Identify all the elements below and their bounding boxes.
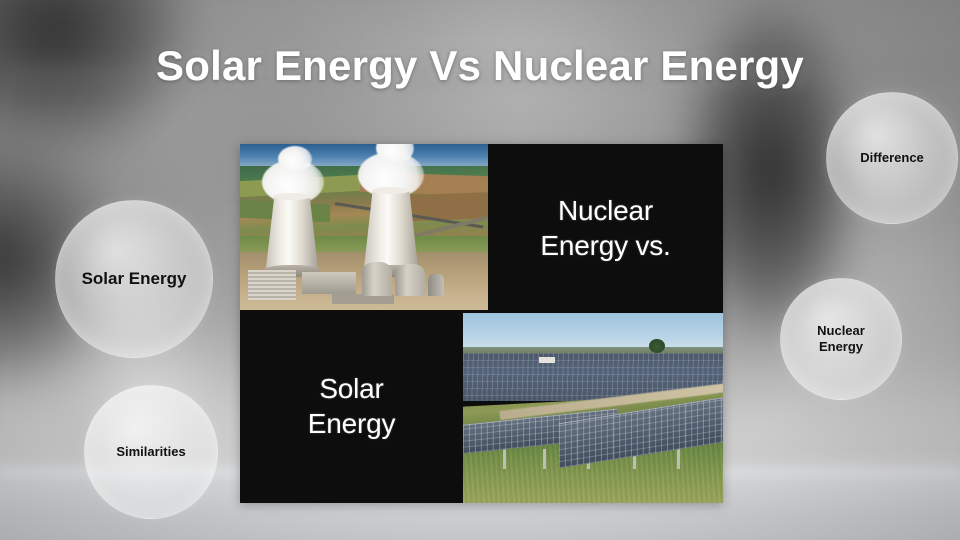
cooling-tower-rim <box>273 193 310 200</box>
bubble-label: Solar Energy <box>82 268 187 289</box>
nuclear-plant-photo <box>240 144 488 310</box>
service-building <box>539 357 555 363</box>
caption-line-1: Nuclear <box>540 194 670 228</box>
slide-title: Solar Energy Vs Nuclear Energy <box>0 42 960 90</box>
bubble-label: Similarities <box>116 444 185 460</box>
reactor-dome <box>428 274 444 296</box>
solar-energy-caption-panel: Solar Energy <box>240 310 463 503</box>
bubble-label: Difference <box>860 150 924 166</box>
caption-line-1: Solar <box>308 372 396 406</box>
reactor-dome <box>395 264 425 296</box>
caption-line-2: Energy <box>308 407 396 441</box>
cooling-tower <box>266 196 318 268</box>
panel-support-leg <box>677 449 680 469</box>
cooling-tower <box>364 190 418 268</box>
plant-building <box>302 272 356 294</box>
panel-support-leg <box>503 449 506 469</box>
presentation-slide: Solar Energy Vs Nuclear Energy <box>0 0 960 540</box>
cooling-tower-body <box>266 196 318 268</box>
bubble-similarities[interactable]: Similarities <box>84 385 218 519</box>
solar-energy-caption: Solar Energy <box>308 372 396 440</box>
steam-plume-icon <box>278 146 312 172</box>
bubble-label-line-2: Energy <box>817 339 865 355</box>
bubble-solar-energy[interactable]: Solar Energy <box>55 200 213 358</box>
photo-sky <box>463 313 723 351</box>
bubble-nuclear-energy[interactable]: Nuclear Energy <box>780 278 902 400</box>
tree-icon <box>649 339 665 353</box>
nuclear-energy-caption: Nuclear Energy vs. <box>540 194 670 262</box>
caption-line-2: Energy vs. <box>540 229 670 263</box>
collage-image: Nuclear Energy vs. Solar Energy <box>240 144 723 503</box>
cooling-tower-rim <box>372 187 411 194</box>
reactor-dome <box>362 262 392 296</box>
bubble-label-line-1: Nuclear <box>817 323 865 339</box>
nuclear-energy-caption-panel: Nuclear Energy vs. <box>488 144 723 313</box>
bubble-label-wrap: Nuclear Energy <box>817 323 865 356</box>
bubble-difference[interactable]: Difference <box>826 92 958 224</box>
solar-farm-photo <box>463 313 723 503</box>
cooling-tower-body <box>364 190 418 268</box>
panel-support-leg <box>543 449 546 469</box>
plant-building <box>248 270 296 300</box>
